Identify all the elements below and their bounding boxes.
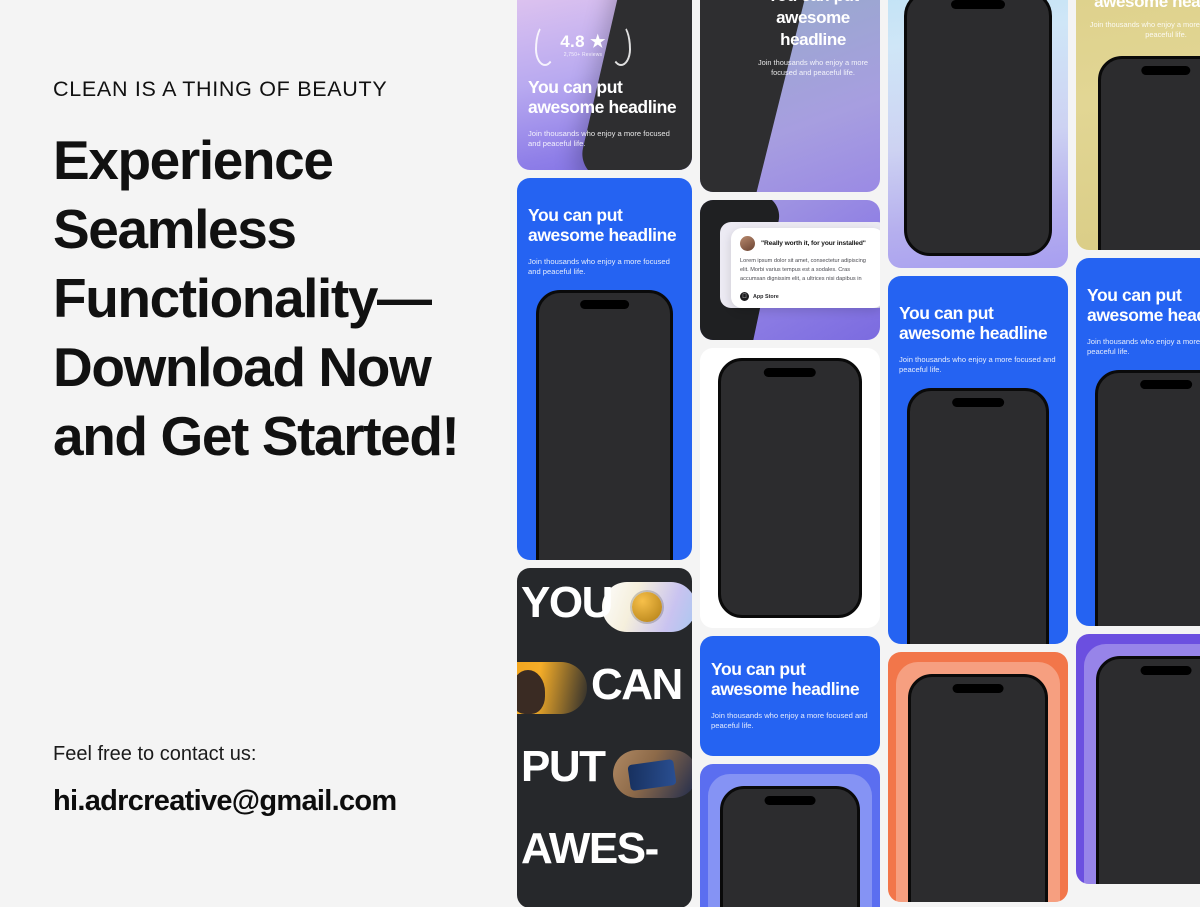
- testimonial-card-stack: "Really worth it, for your installed" Lo…: [720, 222, 880, 308]
- mockup-card-blue-hero-3[interactable]: You can put awesome headline Join thousa…: [1076, 258, 1200, 626]
- apple-icon: : [740, 292, 749, 301]
- card-subtext: Join thousands who enjoy a more focused …: [1086, 20, 1200, 40]
- mockup-card-white-phone[interactable]: [700, 348, 880, 628]
- mockup-gallery: 4.8 ★ 2,750+ Reviews You can put awesome…: [517, 0, 1200, 907]
- phone-mockup: [908, 674, 1048, 902]
- gallery-column-1: 4.8 ★ 2,750+ Reviews You can put awesome…: [517, 0, 692, 907]
- page-title: Experience Seamless Functionality—Downlo…: [53, 126, 493, 471]
- rating-reviews: 2,750+ Reviews: [564, 52, 603, 58]
- mockup-card-typographic[interactable]: YOU CAN PUT AWES-: [517, 568, 692, 907]
- phone-mockup: [700, 0, 822, 192]
- card-headline-line3: headline: [752, 30, 874, 49]
- notch: [1140, 380, 1192, 389]
- big-word: YOU: [521, 582, 612, 624]
- mockup-card-periwinkle[interactable]: [700, 764, 880, 907]
- left-content-panel: CLEAN IS A THING OF BEAUTY Experience Se…: [0, 0, 517, 907]
- phone-mockup: [1098, 56, 1200, 250]
- contact-email[interactable]: hi.adrcreative@gmail.com: [53, 785, 397, 818]
- notch: [951, 0, 1005, 9]
- mockup-card-rating[interactable]: 4.8 ★ 2,750+ Reviews You can put awesome…: [517, 0, 692, 170]
- mockup-card-testimonial[interactable]: "Really worth it, for your installed" Lo…: [700, 200, 880, 340]
- contact-label: Feel free to contact us:: [53, 743, 256, 766]
- testimonial-store: App Store: [753, 294, 779, 300]
- card-headline: You can put awesome headline: [711, 660, 871, 699]
- notch: [1141, 666, 1192, 675]
- card-subtext: Join thousands who enjoy a more focused …: [528, 257, 683, 278]
- mockup-card-blue-hero-2[interactable]: You can put awesome headline Join thousa…: [888, 276, 1068, 644]
- card-headline-line2: awesome headline: [1086, 0, 1200, 11]
- card-headline-line1: You can put: [752, 0, 874, 5]
- eyebrow-text: CLEAN IS A THING OF BEAUTY: [53, 77, 387, 102]
- mockup-card-coral[interactable]: [888, 652, 1068, 902]
- photo-pill-person: [517, 662, 587, 714]
- star-icon: ★: [590, 32, 606, 51]
- laurel-right-icon: [611, 24, 631, 66]
- card-headline-line2: awesome: [752, 8, 874, 27]
- notch: [953, 684, 1004, 693]
- phone-mockup: [1096, 656, 1200, 884]
- phone-mockup: [718, 358, 862, 618]
- notch: [580, 300, 630, 309]
- testimonial-card: "Really worth it, for your installed" Lo…: [731, 228, 880, 308]
- notch: [1141, 66, 1190, 75]
- card-subtext: Join thousands who enjoy a more focused …: [752, 58, 874, 78]
- poster-canvas: CLEAN IS A THING OF BEAUTY Experience Se…: [0, 0, 1200, 907]
- mockup-card-slate[interactable]: You can put awesome headline Join thousa…: [700, 0, 880, 192]
- gallery-column-2: You can put awesome headline Join thousa…: [700, 0, 880, 907]
- laurel-left-icon: [535, 24, 555, 66]
- big-word: PUT: [521, 746, 605, 788]
- phone-mockup: [907, 388, 1049, 644]
- mockup-card-blue-hero[interactable]: You can put awesome headline Join thousa…: [517, 178, 692, 560]
- photo-pill-cards: [613, 750, 692, 798]
- rating-badge: 4.8 ★ 2,750+ Reviews: [535, 22, 631, 68]
- phone-mockup: [720, 786, 860, 907]
- phone-mockup: [1095, 370, 1200, 626]
- phone-mockup: [536, 290, 673, 560]
- avatar: [740, 236, 755, 251]
- notch: [952, 398, 1004, 407]
- testimonial-quote: "Really worth it, for your installed": [761, 240, 866, 247]
- rating-score: 4.8: [560, 32, 585, 51]
- card-headline: You can put awesome headline: [528, 206, 683, 245]
- notch: [765, 796, 816, 805]
- big-word: CAN: [591, 664, 682, 706]
- mockup-card-blue-caption[interactable]: You can put awesome headline Join thousa…: [700, 636, 880, 756]
- card-subtext: Join thousands who enjoy a more focused …: [1087, 337, 1200, 358]
- mockup-card-purple[interactable]: [1076, 634, 1200, 884]
- card-headline: You can put awesome headline: [528, 78, 683, 117]
- big-word: AWES-: [521, 828, 658, 870]
- card-headline: You can put awesome headline: [899, 304, 1059, 343]
- mockup-card-ice-phone[interactable]: [888, 0, 1068, 268]
- card-subtext: Join thousands who enjoy a more focused …: [899, 355, 1059, 376]
- gallery-column-4: You can put awesome headline Join thousa…: [1076, 0, 1200, 907]
- phone-mockup: [904, 0, 1052, 256]
- photo-pill-crypto: [602, 582, 692, 632]
- card-subtext: Join thousands who enjoy a more focused …: [528, 129, 683, 150]
- testimonial-body: Lorem ipsum dolor sit amet, consectetur …: [740, 257, 875, 284]
- card-subtext: Join thousands who enjoy a more focused …: [711, 711, 871, 732]
- mockup-card-tan[interactable]: You can put awesome headline Join thousa…: [1076, 0, 1200, 250]
- card-headline: You can put awesome headline: [1087, 286, 1200, 325]
- gallery-column-3: You can put awesome headline Join thousa…: [888, 0, 1068, 907]
- notch: [764, 368, 816, 377]
